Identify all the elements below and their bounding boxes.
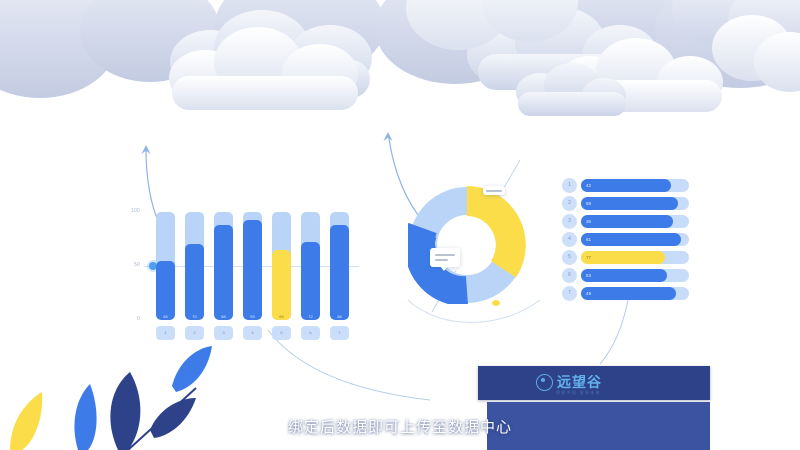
curve-chart-to-panel: [268, 330, 430, 400]
bar-fill: [185, 244, 204, 320]
subtitle-caption: 绑定后数据即可上传至数据中心: [0, 416, 800, 437]
bar-category-chip[interactable]: 3: [214, 326, 233, 340]
row-fill: 53: [581, 269, 667, 282]
y-axis-label-50: 50: [124, 262, 140, 268]
donut-value-label[interactable]: [483, 186, 505, 195]
tooltip-line: [435, 254, 455, 256]
y-axis-label-100: 100: [124, 208, 140, 214]
bar-value: 72: [301, 314, 320, 319]
bar-track[interactable]: 55: [156, 212, 175, 320]
y-axis-label-0: 0: [124, 316, 140, 322]
row-fill: 58: [581, 197, 678, 210]
bar-value: 88: [330, 314, 349, 319]
decor-dot-blue: [442, 296, 451, 303]
row-track: 77: [581, 251, 689, 264]
row-track: 36: [581, 215, 689, 228]
row-value: 58: [586, 197, 591, 210]
bar-track-highlighted[interactable]: 65: [272, 212, 291, 320]
row-value: 53: [586, 269, 591, 282]
illustration-stage: 100 50 0 55 1 70 2 88 3 93 4 65 5: [0, 0, 800, 450]
cloud-band: [0, 0, 800, 135]
row-fill: 49: [581, 287, 676, 300]
bar-category-chip[interactable]: 7: [330, 326, 349, 340]
speech-bubble-tail: [440, 266, 448, 271]
row-index-badge: 7: [562, 286, 577, 301]
row-index-badge: 2: [562, 196, 577, 211]
bar-category-chip[interactable]: 2: [185, 326, 204, 340]
bar-value: 55: [156, 314, 175, 319]
row-track: 58: [581, 197, 689, 210]
row-value: 42: [586, 179, 591, 192]
bar-fill: [243, 220, 262, 320]
bar-value: 70: [185, 314, 204, 319]
cloud-icon-group: [0, 0, 800, 135]
bar-category-chip[interactable]: 6: [301, 326, 320, 340]
bar-fill: [301, 242, 320, 320]
brand-logo: 远望谷: [536, 372, 602, 392]
row-index-badge: 4: [562, 232, 577, 247]
bar-track[interactable]: 88: [330, 212, 349, 320]
row-track: 61: [581, 233, 689, 246]
leaf-icon-navy: [110, 372, 140, 450]
bar-value: 65: [272, 314, 291, 319]
donut-chart[interactable]: [408, 186, 526, 304]
row-index-badge: 1: [562, 178, 577, 193]
row-value: 36: [586, 215, 591, 228]
bar-category-chip[interactable]: 5: [272, 326, 291, 340]
bar-track[interactable]: 93: [243, 212, 262, 320]
row-fill-highlight: 77: [581, 251, 665, 264]
bar-fill-highlight: [272, 250, 291, 320]
row-value: 49: [586, 287, 591, 300]
row-value: 61: [586, 233, 591, 246]
bar-track[interactable]: 72: [301, 212, 320, 320]
circle-at-icon: [536, 374, 553, 391]
curve-list-to-panel: [600, 300, 628, 364]
row-track: 49: [581, 287, 689, 300]
row-track: 42: [581, 179, 689, 192]
row-index-badge: 5: [562, 250, 577, 265]
decor-dot-yellow: [492, 300, 500, 306]
row-fill: 36: [581, 215, 673, 228]
row-value: 77: [586, 251, 591, 264]
logo-banner-panel: 远望谷 物联中国 智享未来: [478, 366, 710, 400]
bar-value: 88: [214, 314, 233, 319]
logo-tagline: 物联中国 智享未来: [556, 390, 601, 396]
speech-bubble-icon[interactable]: [430, 248, 460, 267]
leaf-icon-blue-upper: [172, 346, 212, 392]
bar-fill: [330, 225, 349, 320]
row-fill: 61: [581, 233, 681, 246]
row-track: 53: [581, 269, 689, 282]
bar-fill: [156, 261, 175, 320]
tooltip-line: [486, 190, 502, 192]
bar-category-chip[interactable]: 4: [243, 326, 262, 340]
row-index-badge: 3: [562, 214, 577, 229]
bar-track[interactable]: 70: [185, 212, 204, 320]
bar-track[interactable]: 88: [214, 212, 233, 320]
bar-value: 93: [243, 314, 262, 319]
logo-name: 远望谷: [557, 372, 602, 392]
tooltip-line: [435, 259, 448, 261]
bar-fill: [214, 225, 233, 320]
row-fill: 42: [581, 179, 671, 192]
bar-category-chip[interactable]: 1: [156, 326, 175, 340]
row-index-badge: 6: [562, 268, 577, 283]
